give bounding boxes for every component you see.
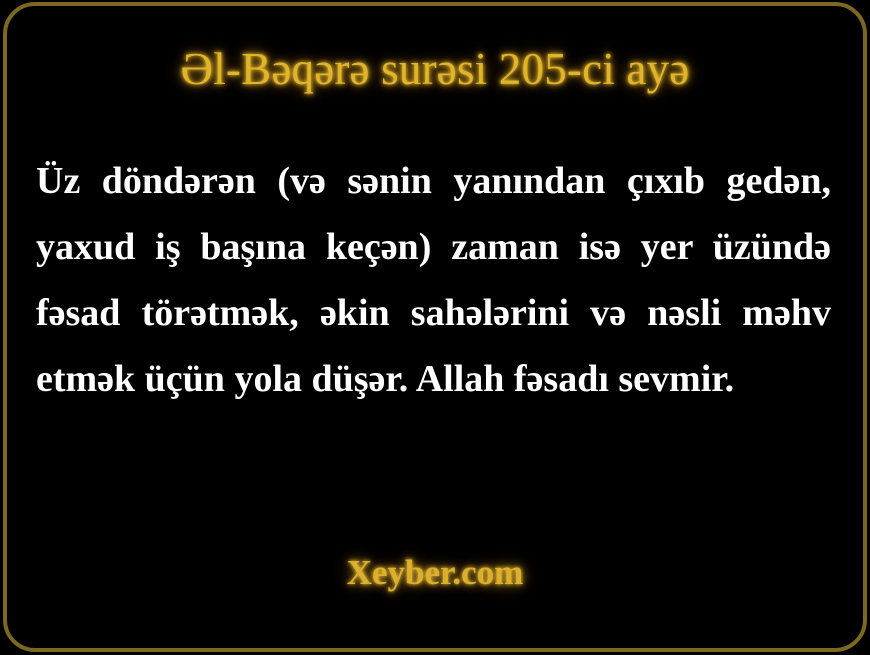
quote-card: Əl-Bəqərə surəsi 205-ci ayə Üz döndərən … [0, 0, 870, 655]
verse-text: Üz döndərən (və sənin yanından çıxıb ged… [36, 148, 831, 412]
site-watermark: Xeyber.com [0, 551, 870, 595]
page-title: Əl-Bəqərə surəsi 205-ci ayə [0, 41, 870, 97]
